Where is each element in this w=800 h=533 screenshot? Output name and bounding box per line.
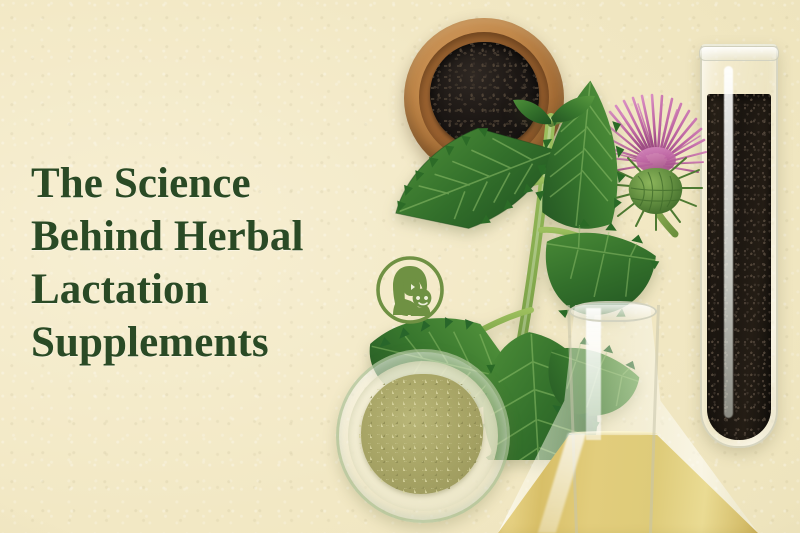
title-line-3: Lactation	[31, 263, 361, 316]
flask-neck-highlight	[586, 308, 601, 440]
title-line-4: Supplements	[31, 316, 361, 369]
test-tube-lip	[699, 46, 779, 61]
flask-rim	[569, 301, 658, 322]
glass-dish-fennel-seeds	[336, 349, 510, 523]
fennel-seed-pile	[361, 374, 483, 494]
fennel-seed-texture	[359, 372, 485, 496]
mother-and-baby-glyph	[393, 266, 431, 316]
title-line-2: Behind Herbal	[31, 210, 361, 263]
page-title: The Science Behind Herbal Lactation Supp…	[31, 157, 361, 369]
title-line-1: The Science	[31, 157, 361, 210]
mother-and-baby-icon	[374, 254, 446, 326]
promo-banner: The Science Behind Herbal Lactation Supp…	[0, 0, 800, 533]
erlenmeyer-flask-yellow-liquid	[498, 305, 758, 533]
